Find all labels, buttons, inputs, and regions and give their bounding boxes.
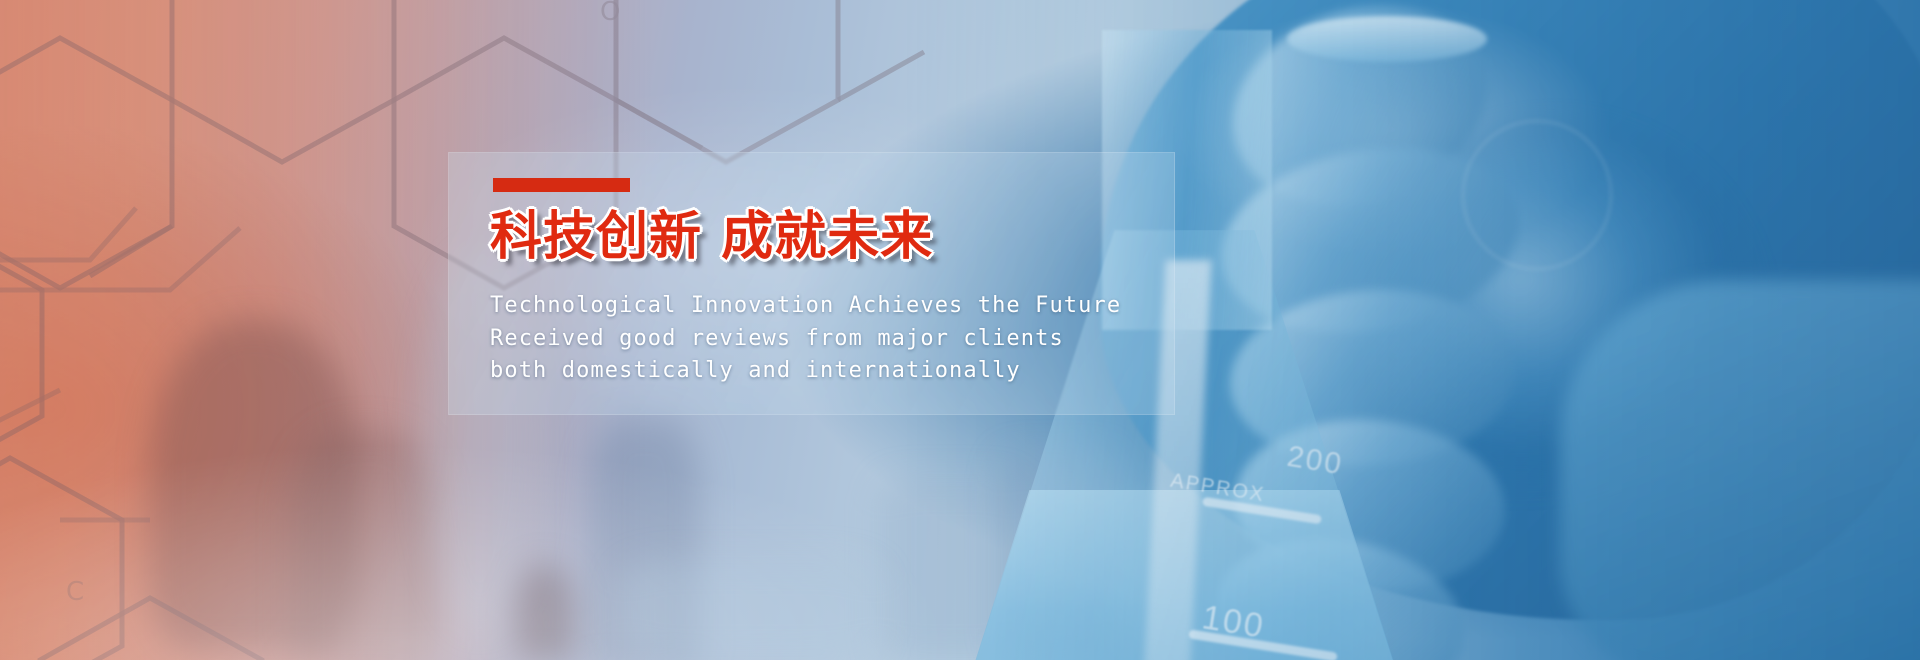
hero-subtitle-line-3: both domestically and internationally [490, 358, 1021, 383]
hero-subtitle-line-2: Received good reviews from major clients [490, 326, 1064, 351]
hero-subtitle-line-1: Technological Innovation Achieves the Fu… [490, 293, 1121, 318]
red-accent-bar [493, 178, 630, 192]
svg-text:O: O [600, 0, 620, 27]
hero-headline: 科技创新 成就未来 [490, 210, 933, 265]
hero-banner: N O C O APPROX 200 100 [0, 0, 1920, 660]
